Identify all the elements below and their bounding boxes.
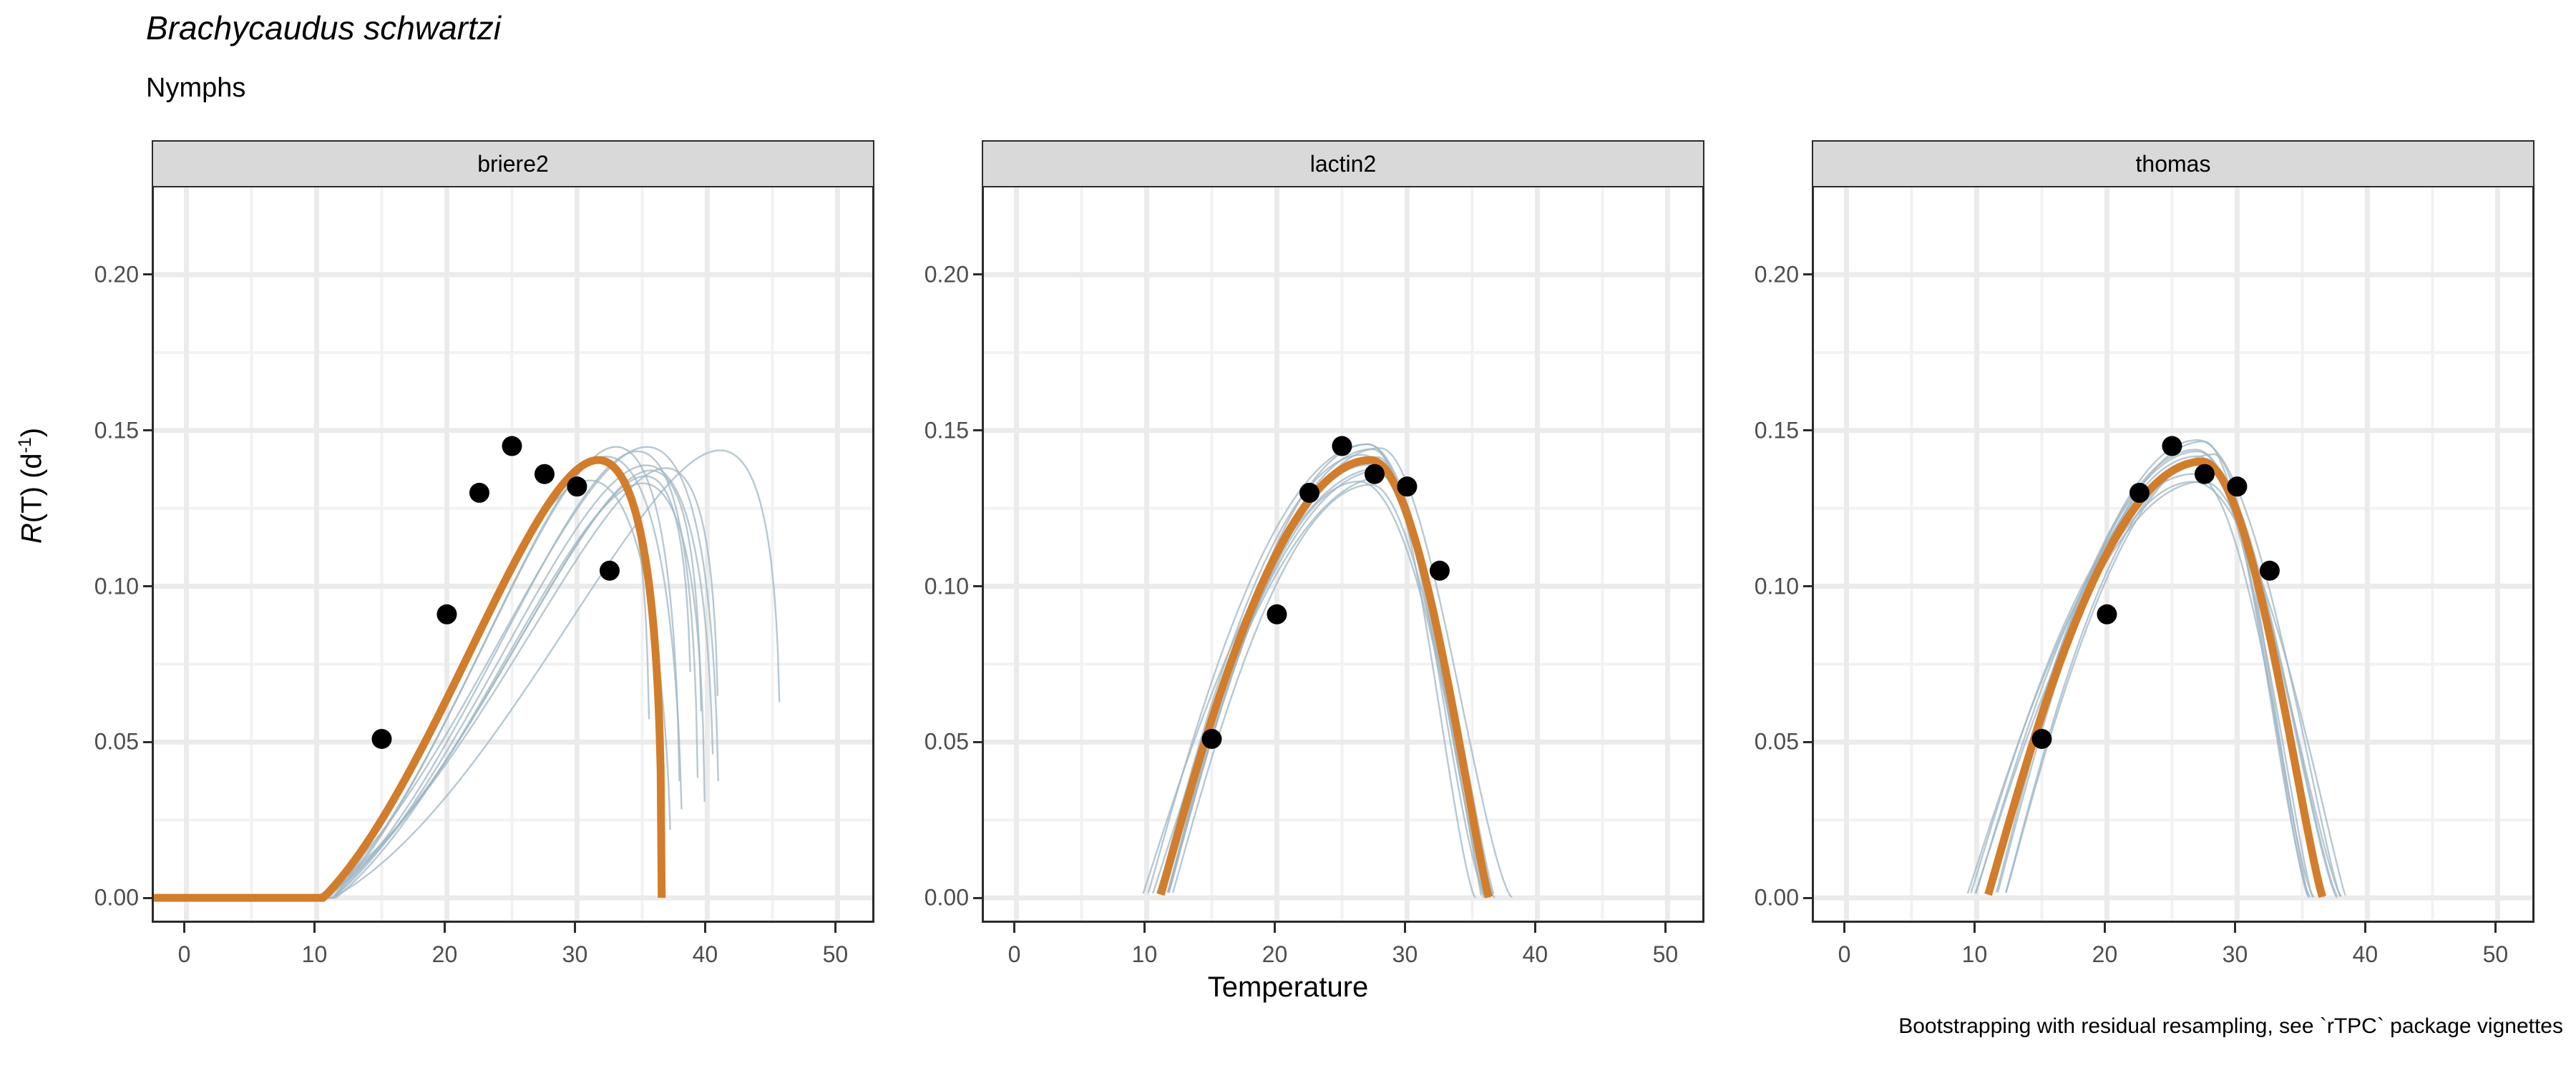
bootstrap-curve <box>1988 456 2313 897</box>
y-axis-title-suffix: ) <box>16 428 47 437</box>
facet-panel-lactin2: lactin2010203040500.000.050.100.150.20 <box>982 140 1704 923</box>
x-tick-label: 0 <box>1838 941 1851 968</box>
facet-strip-lactin2: lactin2 <box>982 140 1704 187</box>
y-axis-ticks-thomas: 0.000.050.100.150.20 <box>1719 187 1799 923</box>
plot-area-lactin2 <box>982 187 1704 923</box>
y-tick-mark <box>973 273 983 275</box>
x-tick-mark <box>1274 923 1276 933</box>
data-point <box>1430 561 1450 581</box>
y-tick-label: 0.15 <box>924 417 969 444</box>
x-tick-mark <box>1404 923 1406 933</box>
bootstrap-curve <box>154 466 713 898</box>
facet-strip-label: briere2 <box>477 151 549 177</box>
fit-curve-thomas <box>1988 461 2322 896</box>
x-axis-ticks-lactin2: 01020304050 <box>982 923 1704 973</box>
x-tick-mark <box>2234 923 2236 933</box>
y-tick-mark <box>973 741 983 743</box>
bootstrap-curve <box>1169 481 1481 895</box>
data-point <box>567 476 587 496</box>
x-tick-label: 10 <box>1132 941 1158 968</box>
x-tick-label: 10 <box>302 941 328 968</box>
x-tick-mark <box>704 923 706 933</box>
y-tick-label: 0.00 <box>1755 885 1799 911</box>
facet-strip-briere2: briere2 <box>152 140 874 187</box>
bootstrap-curve <box>154 451 779 898</box>
y-tick-mark <box>143 741 153 743</box>
x-tick-mark <box>1974 923 1976 933</box>
x-tick-label: 30 <box>2223 941 2248 968</box>
data-point <box>2195 464 2215 484</box>
x-tick-label: 40 <box>1523 941 1548 968</box>
bootstrap-curve <box>1987 451 2323 896</box>
y-axis-title: R(T) (d-1) <box>16 428 48 544</box>
data-point <box>2031 729 2051 749</box>
data-point <box>600 561 620 581</box>
x-tick-label: 40 <box>693 941 718 968</box>
y-tick-mark <box>143 273 153 275</box>
x-tick-mark <box>1843 923 1845 933</box>
data-point <box>469 483 489 503</box>
plot-caption: Bootstrapping with residual resampling, … <box>1898 1014 2563 1039</box>
y-axis-title-symbol: R <box>16 523 47 544</box>
y-tick-mark <box>973 429 983 431</box>
y-tick-label: 0.05 <box>924 729 969 755</box>
bootstrap-curve <box>154 471 701 898</box>
bootstrap-curve <box>1968 463 2310 896</box>
bootstrap-curves <box>1143 444 1512 898</box>
x-tick-label: 20 <box>432 941 458 968</box>
y-tick-label: 0.20 <box>924 261 969 288</box>
fit-curve-briere2 <box>154 460 662 898</box>
y-tick-label: 0.05 <box>1755 729 1799 755</box>
plot-canvas <box>1814 187 2534 923</box>
x-axis-title: Temperature <box>0 971 2576 1004</box>
data-point <box>2162 436 2182 456</box>
gridlines <box>1814 187 2534 923</box>
data-point <box>502 436 522 456</box>
y-tick-label: 0.10 <box>924 573 969 599</box>
x-tick-mark <box>834 923 836 933</box>
plot-subtitle: Nymphs <box>146 73 245 104</box>
data-point <box>1332 436 1352 456</box>
x-tick-label: 30 <box>562 941 588 968</box>
y-axis-ticks-lactin2: 0.000.050.100.150.20 <box>889 187 969 923</box>
data-point <box>436 604 457 624</box>
y-tick-mark <box>973 585 983 587</box>
x-tick-label: 20 <box>1262 941 1288 968</box>
y-axis-ticks-briere2: 0.000.050.100.150.20 <box>59 187 139 923</box>
x-axis-ticks-thomas: 01020304050 <box>1812 923 2534 973</box>
x-tick-mark <box>313 923 316 933</box>
x-tick-mark <box>1534 923 1536 933</box>
data-point <box>1397 476 1417 496</box>
y-tick-label: 0.10 <box>94 573 139 599</box>
data-point <box>1201 729 1221 749</box>
plot-canvas <box>154 187 874 923</box>
data-point <box>1365 464 1385 484</box>
y-tick-label: 0.15 <box>1755 417 1799 444</box>
y-tick-mark <box>143 429 153 431</box>
y-tick-label: 0.10 <box>1755 573 1799 599</box>
y-tick-mark <box>1803 897 1813 899</box>
gridlines <box>984 187 1704 923</box>
facet-strip-label: thomas <box>2136 151 2211 177</box>
bootstrap-curve <box>1153 476 1487 898</box>
data-point <box>2260 561 2280 581</box>
data-point <box>2129 483 2150 503</box>
bootstrap-curve <box>154 476 691 898</box>
facet-strip-thomas: thomas <box>1812 140 2534 187</box>
y-tick-mark <box>973 897 983 899</box>
y-tick-mark <box>1803 585 1813 587</box>
x-tick-mark <box>2494 923 2497 933</box>
y-tick-label: 0.00 <box>924 885 969 911</box>
y-tick-mark <box>1803 741 1813 743</box>
x-tick-label: 50 <box>1653 941 1679 968</box>
data-point <box>1267 604 1287 624</box>
plot-canvas <box>984 187 1704 923</box>
y-tick-label: 0.15 <box>94 417 139 444</box>
plot-area-thomas <box>1812 187 2534 923</box>
data-point <box>535 464 555 484</box>
x-axis-ticks-briere2: 01020304050 <box>152 923 874 973</box>
y-tick-mark <box>143 585 153 587</box>
x-tick-mark <box>183 923 185 933</box>
y-axis-title-exponent: -1 <box>16 437 35 453</box>
plot-area-briere2 <box>152 187 874 923</box>
data-point <box>371 729 391 749</box>
y-tick-mark <box>143 897 153 899</box>
facet-panel-briere2: briere2010203040500.000.050.100.150.20 <box>152 140 874 923</box>
x-tick-label: 10 <box>1962 941 1988 968</box>
y-tick-label: 0.20 <box>1755 261 1799 288</box>
x-tick-label: 50 <box>823 941 849 968</box>
x-tick-label: 0 <box>1008 941 1021 968</box>
y-tick-label: 0.05 <box>94 729 139 755</box>
facet-strip-label: lactin2 <box>1310 151 1377 177</box>
bootstrap-curve <box>1163 457 1475 898</box>
x-tick-mark <box>1143 923 1146 933</box>
x-tick-label: 30 <box>1392 941 1418 968</box>
y-axis-title-mid: (T) (d <box>16 453 47 523</box>
data-point <box>1299 483 1319 503</box>
data-point <box>2227 476 2247 496</box>
y-tick-mark <box>1803 429 1813 431</box>
x-tick-mark <box>444 923 446 933</box>
y-tick-label: 0.20 <box>94 261 139 288</box>
page-title: Brachycaudus schwartzi <box>146 9 501 47</box>
x-tick-mark <box>2104 923 2106 933</box>
facet-panel-thomas: thomas010203040500.000.050.100.150.20 <box>1812 140 2534 923</box>
x-tick-label: 40 <box>2353 941 2379 968</box>
data-point <box>2097 604 2117 624</box>
x-tick-mark <box>574 923 576 933</box>
x-tick-mark <box>1664 923 1667 933</box>
tpc-bootstrap-figure: Brachycaudus schwartzi Nymphs R(T) (d-1)… <box>0 0 2576 1073</box>
x-tick-label: 0 <box>178 941 191 968</box>
x-tick-mark <box>2364 923 2366 933</box>
bootstrap-curves <box>154 447 779 898</box>
y-tick-label: 0.00 <box>94 885 139 911</box>
y-tick-mark <box>1803 273 1813 275</box>
x-tick-label: 50 <box>2483 941 2509 968</box>
bootstrap-curve <box>154 451 698 898</box>
x-tick-label: 20 <box>2092 941 2118 968</box>
x-tick-mark <box>1013 923 1015 933</box>
bootstrap-curve <box>1158 455 1485 898</box>
